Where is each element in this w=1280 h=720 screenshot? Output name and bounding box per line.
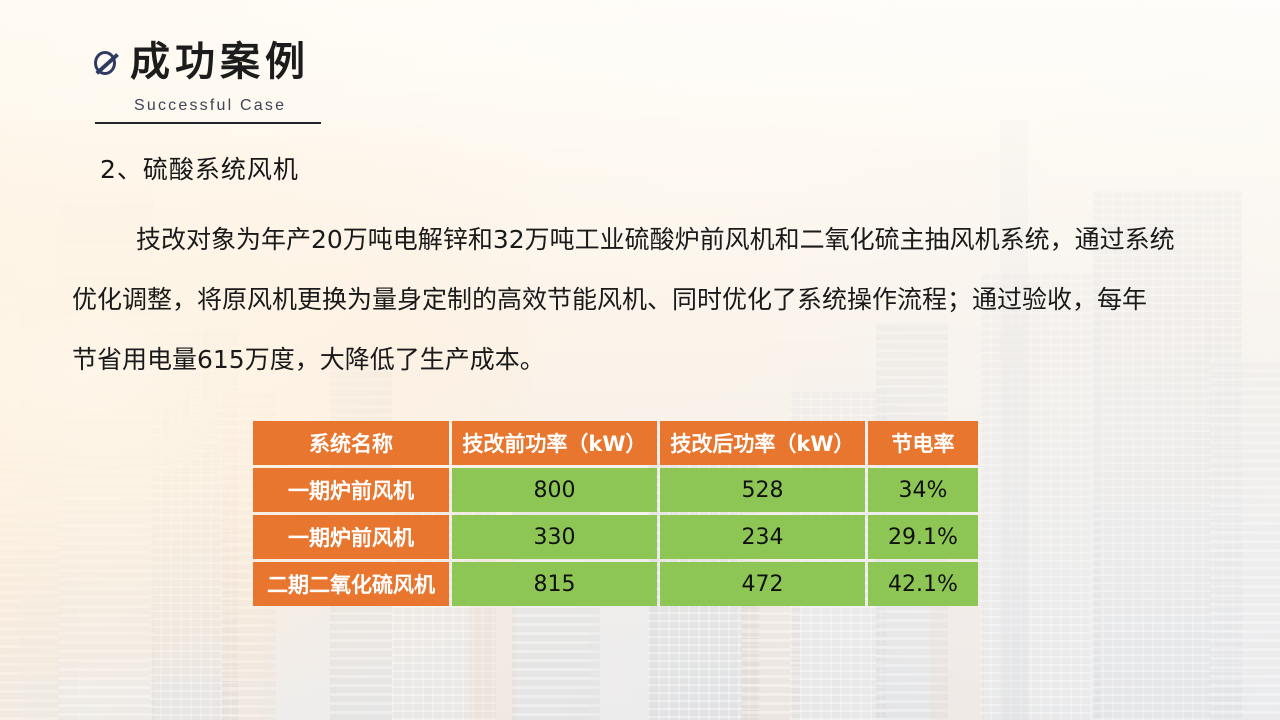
table-row: 一期炉前风机 800 528 34% — [253, 468, 978, 512]
cell-system-name: 一期炉前风机 — [253, 515, 449, 559]
cell-saving-rate: 42.1% — [868, 562, 978, 606]
body-line-1: 技改对象为年产20万吨电解锌和32万吨工业硫酸炉前风机和二氧化硫主抽风机系统，通… — [72, 210, 1252, 270]
title-underline — [95, 122, 321, 124]
slide-title-block: 成功案例 Successful Case — [92, 36, 321, 124]
table-header-power-after: 技改后功率（kW） — [660, 421, 865, 465]
table-row: 一期炉前风机 330 234 29.1% — [253, 515, 978, 559]
cell-saving-rate: 34% — [868, 468, 978, 512]
table-row: 二期二氧化硫风机 815 472 42.1% — [253, 562, 978, 606]
table-header-system-name: 系统名称 — [253, 421, 449, 465]
table-header-saving-rate: 节电率 — [868, 421, 978, 465]
cell-power-before: 330 — [452, 515, 657, 559]
table-head: 系统名称 技改前功率（kW） 技改后功率（kW） 节电率 — [253, 421, 978, 465]
body-paragraph: 技改对象为年产20万吨电解锌和32万吨工业硫酸炉前风机和二氧化硫主抽风机系统，通… — [72, 210, 1252, 390]
table-header-row: 系统名称 技改前功率（kW） 技改后功率（kW） 节电率 — [253, 421, 978, 465]
slide-content: 成功案例 Successful Case 2、硫酸系统风机 技改对象为年产20万… — [0, 0, 1280, 720]
page-title: 成功案例 — [130, 42, 310, 82]
null-slash-icon — [92, 49, 122, 79]
cell-system-name: 二期二氧化硫风机 — [253, 562, 449, 606]
cell-power-after: 234 — [660, 515, 865, 559]
slide-canvas: 成功案例 Successful Case 2、硫酸系统风机 技改对象为年产20万… — [0, 0, 1280, 720]
table-header-power-before: 技改前功率（kW） — [452, 421, 657, 465]
cell-saving-rate: 29.1% — [868, 515, 978, 559]
results-table: 系统名称 技改前功率（kW） 技改后功率（kW） 节电率 一期炉前风机 800 … — [250, 418, 981, 609]
body-line-2: 优化调整，将原风机更换为量身定制的高效节能风机、同时优化了系统操作流程；通过验收… — [72, 270, 1252, 330]
body-line-3: 节省用电量615万度，大降低了生产成本。 — [72, 330, 1252, 390]
cell-power-after: 472 — [660, 562, 865, 606]
cell-power-after: 528 — [660, 468, 865, 512]
table-body: 一期炉前风机 800 528 34% 一期炉前风机 330 234 29.1% … — [253, 468, 978, 606]
title-row: 成功案例 — [92, 36, 321, 88]
page-subtitle: Successful Case — [134, 97, 321, 115]
section-heading: 2、硫酸系统风机 — [100, 150, 299, 186]
cell-power-before: 815 — [452, 562, 657, 606]
cell-power-before: 800 — [452, 468, 657, 512]
cell-system-name: 一期炉前风机 — [253, 468, 449, 512]
